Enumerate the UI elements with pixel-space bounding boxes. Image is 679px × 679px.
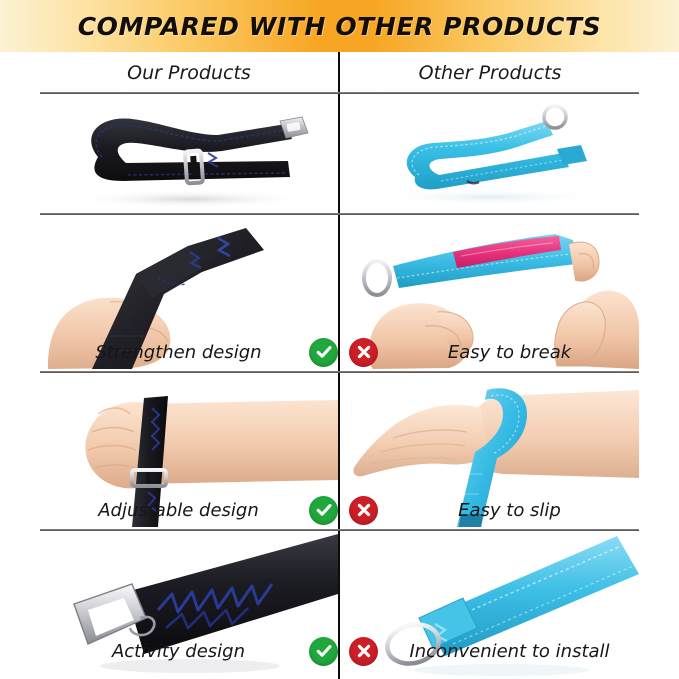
caption-strengthen-design: Strengthen design bbox=[54, 342, 309, 363]
column-header-other-products: Other Products bbox=[341, 56, 639, 90]
caption-activity-design: Activity design bbox=[54, 641, 309, 662]
caption-easy-to-slip: Easy to slip bbox=[378, 500, 639, 521]
check-circle-icon bbox=[309, 637, 338, 666]
page-title: COMPARED WITH OTHER PRODUCTS bbox=[0, 0, 679, 52]
row-divider-header bbox=[40, 92, 639, 94]
caption-easy-to-break: Easy to break bbox=[378, 342, 639, 363]
cross-circle-icon bbox=[349, 338, 378, 367]
photo-cell-our-product-1 bbox=[40, 95, 338, 211]
caption-row-3-right: Easy to slip bbox=[341, 488, 639, 532]
cross-circle-icon bbox=[349, 637, 378, 666]
blue-strap-photo bbox=[341, 95, 639, 211]
caption-row-4-right: Inconvenient to install bbox=[341, 629, 639, 673]
check-circle-icon bbox=[309, 338, 338, 367]
check-circle-icon bbox=[309, 496, 338, 525]
caption-row-2-left: Strengthen design bbox=[40, 330, 338, 374]
column-divider bbox=[338, 52, 340, 679]
column-header-our-products: Our Products bbox=[40, 56, 338, 90]
cross-circle-icon bbox=[349, 496, 378, 525]
photo-cell-other-product-1 bbox=[341, 95, 639, 211]
caption-inconvenient-to-install: Inconvenient to install bbox=[378, 641, 639, 662]
caption-row-2-right: Easy to break bbox=[341, 330, 639, 374]
caption-row-4-left: Activity design bbox=[40, 629, 338, 673]
caption-row-3-left: Adjustable design bbox=[40, 488, 338, 532]
black-strap-photo bbox=[40, 95, 338, 211]
row-divider-1 bbox=[40, 213, 639, 215]
caption-adjustable-design: Adjustable design bbox=[54, 500, 309, 521]
